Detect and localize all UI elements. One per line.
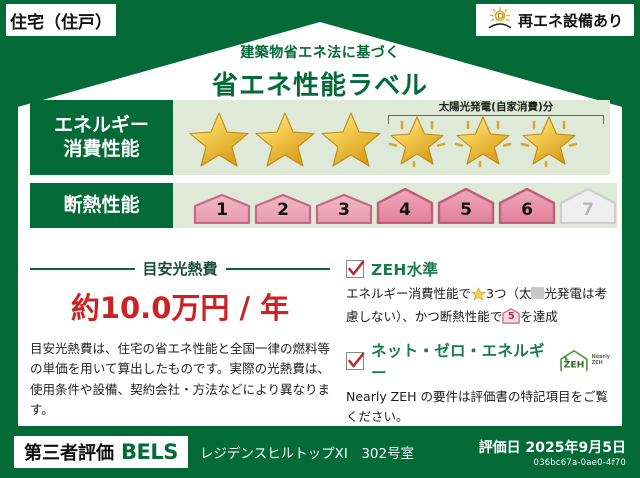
utility-cost-column: 目安光熱費 約10.0万円 / 年 目安光熱費は、住宅の省エネ性能と全国一律の燃… bbox=[30, 258, 330, 439]
insulation-level-7-label: 7 bbox=[582, 200, 594, 220]
redacted-text-block bbox=[531, 287, 544, 299]
row-spacer bbox=[30, 175, 610, 183]
heading-rule-right bbox=[226, 268, 331, 270]
heading-rule-left bbox=[30, 268, 135, 270]
bels-en-label: BELS bbox=[121, 440, 178, 464]
energy-performance-row-label: エネルギー 消費性能 bbox=[30, 100, 173, 175]
energy-performance-label: 住宅（住戸） 再エネ設備あり 建築物省エネ法に基づく bbox=[0, 0, 640, 478]
insulation-level-5-label: 5 bbox=[460, 200, 472, 220]
zeh-standard-title: ZEH水準 bbox=[371, 258, 438, 280]
insulation-level-2-label: 2 bbox=[277, 200, 289, 220]
evaluation-date: 評価日 2025年9月5日 bbox=[479, 437, 626, 457]
insulation-level-6: 6 bbox=[498, 188, 556, 224]
insulation-performance-label: 断熱性能 bbox=[63, 194, 139, 218]
utility-cost-heading: 目安光熱費 bbox=[30, 258, 330, 279]
insulation-level-6-label: 6 bbox=[521, 200, 533, 220]
badge-house-type: 住宅（住戸） bbox=[6, 4, 116, 36]
utility-cost-value: 約10.0万円 / 年 bbox=[30, 285, 330, 327]
checkbox-checked-icon bbox=[346, 352, 364, 370]
label-title-sub: 建築物省エネ法に基づく bbox=[0, 42, 640, 62]
zeh-standard-body-part2: 3つ（太 bbox=[486, 286, 531, 301]
net-zero-energy-body: Nearly ZEH の要件は評価書の特記項目をご覧ください。 bbox=[346, 387, 610, 427]
inline-insulation-level-icon: 5 bbox=[502, 308, 520, 324]
star-icon bbox=[187, 107, 251, 169]
evaluation-info: 評価日 2025年9月5日 036bc67a-0ae0-4f70 bbox=[479, 437, 626, 468]
insulation-level-4-label: 4 bbox=[399, 200, 411, 220]
utility-cost-heading-text: 目安光熱費 bbox=[143, 258, 218, 279]
net-zero-energy-heading: ネット・ゼロ・エネルギー ZEH Nearly ZEH bbox=[346, 339, 610, 383]
label-title: 建築物省エネ法に基づく 省エネ性能ラベル bbox=[0, 42, 640, 102]
net-zero-energy-title: ネット・ゼロ・エネルギー bbox=[371, 339, 546, 383]
insulation-performance-row: 断熱性能 1 bbox=[30, 183, 610, 228]
utility-cost-note: 目安光熱費は、住宅の省エネ性能と全国一律の燃料等の単価を用いて算出したものです。… bbox=[30, 339, 330, 420]
badge-renewable-label: 再エネ設備あり bbox=[518, 10, 623, 31]
badge-house-type-label: 住宅（住戸） bbox=[10, 8, 112, 33]
energy-performance-row: エネルギー 消費性能 bbox=[30, 100, 610, 175]
insulation-level-5: 5 bbox=[437, 188, 495, 224]
inline-insulation-level-value: 5 bbox=[502, 309, 520, 325]
lower-content: 目安光熱費 約10.0万円 / 年 目安光熱費は、住宅の省エネ性能と全国一律の燃… bbox=[30, 258, 610, 439]
insulation-level-scale: 1 2 3 bbox=[193, 188, 617, 224]
insulation-level-3-label: 3 bbox=[338, 200, 350, 220]
energy-performance-label-line1: エネルギー bbox=[54, 114, 149, 138]
zeh-standard-heading: ZEH水準 bbox=[346, 258, 610, 280]
evaluation-id: 036bc67a-0ae0-4f70 bbox=[479, 458, 626, 468]
insulation-level-1-label: 1 bbox=[216, 200, 228, 220]
inline-star-icon bbox=[471, 286, 486, 307]
net-zero-energy-block: ネット・ゼロ・エネルギー ZEH Nearly ZEH Nearly ZE bbox=[346, 339, 610, 427]
star-icon-solar bbox=[451, 107, 515, 169]
property-name: レジデンスヒルトップXI 302号室 bbox=[200, 442, 414, 462]
energy-performance-row-body: 太陽光発電(自家消費)分 bbox=[173, 100, 610, 175]
bels-jp-label: 第三者評価 bbox=[24, 439, 114, 465]
solar-sun-icon bbox=[487, 6, 513, 34]
star-icon bbox=[253, 107, 317, 169]
zeh-standard-body-part4: を達成 bbox=[520, 309, 558, 324]
energy-performance-label-line2: 消費性能 bbox=[63, 138, 139, 162]
insulation-level-4: 4 bbox=[376, 188, 434, 224]
ratings-section: エネルギー 消費性能 bbox=[30, 100, 610, 228]
star-icon-solar bbox=[517, 107, 581, 169]
insulation-level-1: 1 bbox=[193, 194, 251, 224]
zeh-standard-body-part1: エネルギー消費性能で bbox=[346, 286, 471, 301]
bottom-bar: 第三者評価 BELS レジデンスヒルトップXI 302号室 評価日 2025年9… bbox=[0, 426, 640, 478]
checkbox-checked-icon bbox=[346, 260, 364, 278]
zeh-standard-block: ZEH水準 エネルギー消費性能で3つ（太光発電は考慮しない）、かつ断熱性能で5を… bbox=[346, 258, 610, 327]
star-rating bbox=[187, 107, 581, 169]
badge-renewable-equipment: 再エネ設備あり bbox=[476, 4, 634, 36]
star-icon bbox=[319, 107, 383, 169]
insulation-level-3: 3 bbox=[315, 194, 373, 224]
bels-certification-badge: 第三者評価 BELS bbox=[14, 436, 188, 468]
insulation-level-2: 2 bbox=[254, 194, 312, 224]
insulation-level-7: 7 bbox=[559, 188, 617, 224]
insulation-performance-row-body: 1 2 3 bbox=[173, 183, 617, 228]
zeh-logo-sub-line2: ZEH bbox=[592, 360, 603, 366]
zeh-house-logo-icon: ZEH Nearly ZEH bbox=[558, 349, 610, 373]
zeh-logo-subtext: Nearly ZEH bbox=[592, 355, 610, 367]
zeh-column: ZEH水準 エネルギー消費性能で3つ（太光発電は考慮しない）、かつ断熱性能で5を… bbox=[330, 258, 610, 439]
star-icon-solar bbox=[385, 107, 449, 169]
label-title-main: 省エネ性能ラベル bbox=[0, 65, 640, 102]
zeh-standard-body: エネルギー消費性能で3つ（太光発電は考慮しない）、かつ断熱性能で5を達成 bbox=[346, 284, 610, 327]
svg-text:ZEH: ZEH bbox=[563, 359, 584, 370]
insulation-performance-row-label: 断熱性能 bbox=[30, 183, 173, 228]
